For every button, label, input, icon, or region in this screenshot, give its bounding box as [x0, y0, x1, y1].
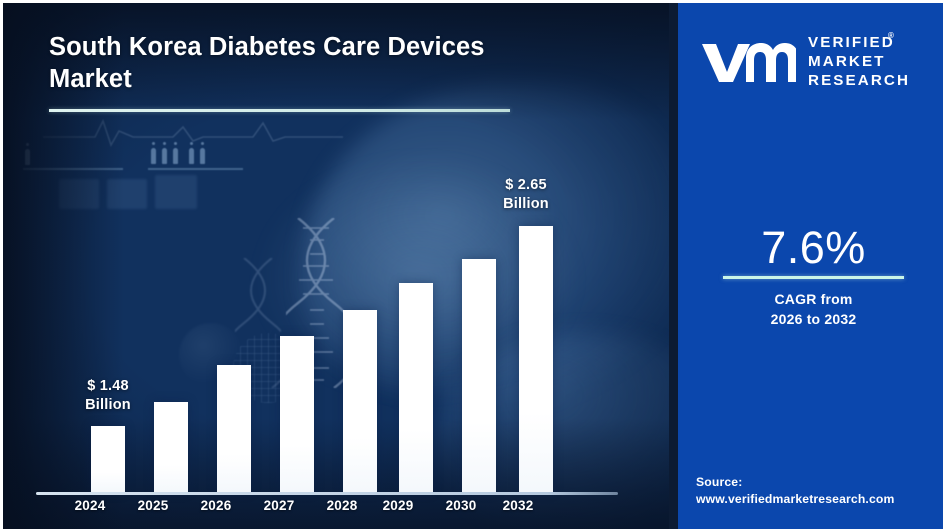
stat-panel: VERIFIED MARKET RESEARCH ® 7.6% CAGR fro… [678, 3, 946, 532]
plot-area: $ 1.48 Billion $ 2.65 Billion 2024 2025 … [3, 3, 675, 532]
bar-value-callout-first: $ 1.48 Billion [48, 377, 168, 414]
bar-2032 [519, 226, 553, 492]
bar-value-amount: $ 1.48 [48, 377, 168, 396]
bar-value-callout-last: $ 2.65 Billion [466, 176, 586, 213]
chart-panel: South Korea Diabetes Care Devices Market… [3, 3, 675, 532]
bar-value-unit: Billion [466, 195, 586, 214]
source-block: Source: www.verifiedmarketresearch.com [696, 474, 946, 509]
infographic-frame: South Korea Diabetes Care Devices Market… [0, 0, 946, 532]
brand-line-market: MARKET [808, 53, 910, 72]
bar-2028 [343, 310, 377, 492]
bar-2029 [399, 283, 433, 492]
bar-2027 [280, 336, 314, 492]
bar-2026 [217, 365, 251, 492]
brand-line-verified: VERIFIED [808, 34, 910, 53]
bar-2025 [154, 402, 188, 492]
x-tick-2025: 2025 [118, 498, 188, 513]
bar-value-unit: Billion [48, 396, 168, 415]
source-label: Source: [696, 474, 946, 491]
cagr-value: 7.6% [678, 222, 946, 274]
x-tick-2027: 2027 [244, 498, 314, 513]
vmr-monogram-icon [700, 40, 796, 84]
x-tick-2032: 2032 [483, 498, 553, 513]
x-tick-2024: 2024 [55, 498, 125, 513]
x-tick-2029: 2029 [363, 498, 433, 513]
bar-2030 [462, 259, 496, 492]
panel-divider [669, 3, 678, 532]
cagr-caption-line2: 2026 to 2032 [678, 309, 946, 329]
brand-logo: VERIFIED MARKET RESEARCH ® [700, 34, 910, 91]
cagr-caption-line1: CAGR from [678, 289, 946, 309]
source-url[interactable]: www.verifiedmarketresearch.com [696, 491, 946, 508]
brand-line-research: RESEARCH [808, 72, 910, 91]
cagr-divider [723, 276, 904, 279]
registered-trademark-icon: ® [888, 31, 894, 41]
bar-2024 [91, 426, 125, 492]
x-tick-2026: 2026 [181, 498, 251, 513]
x-axis-line [36, 492, 618, 495]
bar-value-amount: $ 2.65 [466, 176, 586, 195]
brand-wordmark: VERIFIED MARKET RESEARCH ® [808, 34, 910, 91]
cagr-caption: CAGR from 2026 to 2032 [678, 289, 946, 330]
